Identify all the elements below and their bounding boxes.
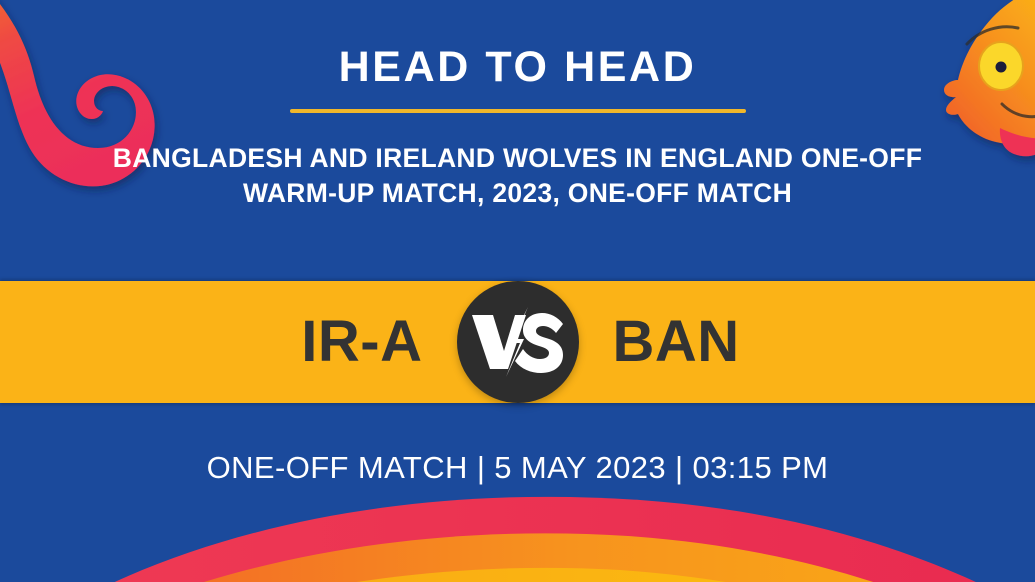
match-details-text: ONE-OFF MATCH | 5 MAY 2023 | 03:15 PM [0, 452, 1035, 483]
matchup-row: IR-A VS BAN [0, 281, 1035, 403]
subtitle-line-1: BANGLADESH AND IRELAND WOLVES IN ENGLAND… [13, 141, 1023, 176]
head-to-head-poster: HEAD TO HEAD BANGLADESH AND IRELAND WOLV… [0, 0, 1035, 582]
vs-lightning-icon [466, 307, 570, 377]
team-right-name: BAN [613, 313, 823, 371]
subtitle-line-2: WARM-UP MATCH, 2023, ONE-OFF MATCH [13, 176, 1023, 211]
title-underline-divider [290, 109, 746, 113]
rainbow-arc-icon [0, 497, 1035, 582]
team-left-name: IR-A [213, 313, 423, 371]
tournament-subtitle: BANGLADESH AND IRELAND WOLVES IN ENGLAND… [13, 141, 1023, 211]
poster-header: HEAD TO HEAD BANGLADESH AND IRELAND WOLV… [0, 0, 1035, 281]
vs-badge: VS [457, 281, 579, 403]
page-title: HEAD TO HEAD [0, 46, 1035, 89]
